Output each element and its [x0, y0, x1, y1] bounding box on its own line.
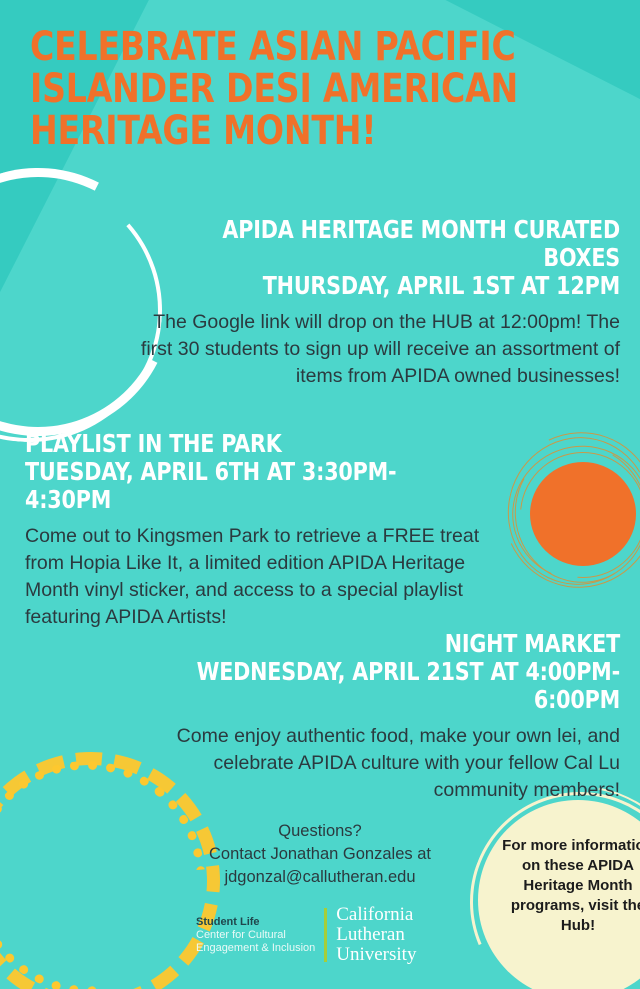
- event-2-name: PLAYLIST IN THE PARK: [25, 430, 457, 458]
- poster-title-line-1: CELEBRATE ASIAN PACIFIC: [30, 26, 564, 68]
- orange-swirl-ring-5: [499, 430, 640, 597]
- event-2-description: Come out to Kingsmen Park to retrieve a …: [25, 523, 495, 631]
- orange-circle-decoration: [530, 462, 636, 566]
- contact-person-label: Contact Jonathan Gonzales at: [150, 843, 490, 866]
- event-1-description: The Google link will drop on the HUB at …: [140, 309, 620, 390]
- event-curated-boxes: APIDA HERITAGE MONTH CURATED BOXES THURS…: [140, 216, 620, 390]
- orange-swirl-ring-3: [494, 426, 640, 604]
- poster-title-line-2: ISLANDER DESI AMERICAN: [30, 68, 564, 110]
- university-logo-line-1: California: [336, 905, 416, 925]
- student-life-logo-line-3: Engagement & Inclusion: [196, 942, 315, 955]
- student-life-logo-line-1: Student Life: [196, 916, 315, 929]
- california-lutheran-university-logo: California Lutheran University: [336, 905, 416, 965]
- poster-title: CELEBRATE ASIAN PACIFIC ISLANDER DESI AM…: [30, 26, 564, 152]
- student-life-logo-line-2: Center for Cultural: [196, 929, 315, 942]
- contact-block: Questions? Contact Jonathan Gonzales at …: [150, 820, 490, 889]
- university-logo-line-3: University: [336, 945, 416, 965]
- student-life-logo: Student Life Center for Cultural Engagem…: [196, 916, 324, 955]
- event-night-market: NIGHT MARKET WEDNESDAY, APRIL 21ST AT 4:…: [140, 630, 620, 804]
- event-3-datetime: WEDNESDAY, APRIL 21ST AT 4:00PM-6:00PM: [178, 658, 620, 714]
- contact-email[interactable]: jdgonzal@callutheran.edu: [150, 866, 490, 889]
- logo-divider: [324, 908, 327, 962]
- orange-swirl-ring-1: [492, 422, 640, 600]
- university-logo-line-2: Lutheran: [336, 925, 416, 945]
- orange-swirl-ring-4: [482, 411, 640, 610]
- event-2-datetime: TUESDAY, APRIL 6TH AT 3:30PM-4:30PM: [25, 458, 457, 514]
- event-playlist-in-the-park: PLAYLIST IN THE PARK TUESDAY, APRIL 6TH …: [25, 430, 495, 631]
- poster-title-line-3: HERITAGE MONTH!: [30, 110, 564, 152]
- event-1-name: APIDA HERITAGE MONTH CURATED BOXES: [178, 216, 620, 272]
- event-3-name: NIGHT MARKET: [178, 630, 620, 658]
- contact-question-label: Questions?: [150, 820, 490, 843]
- poster-canvas: CELEBRATE ASIAN PACIFIC ISLANDER DESI AM…: [0, 0, 640, 989]
- logo-row: Student Life Center for Cultural Engagem…: [196, 905, 416, 965]
- orange-swirl-ring-2: [493, 426, 640, 599]
- event-3-description: Come enjoy authentic food, make your own…: [140, 723, 620, 804]
- event-1-datetime: THURSDAY, APRIL 1ST AT 12PM: [178, 272, 620, 300]
- hub-callout-text: For more information on these APIDA Heri…: [492, 836, 640, 936]
